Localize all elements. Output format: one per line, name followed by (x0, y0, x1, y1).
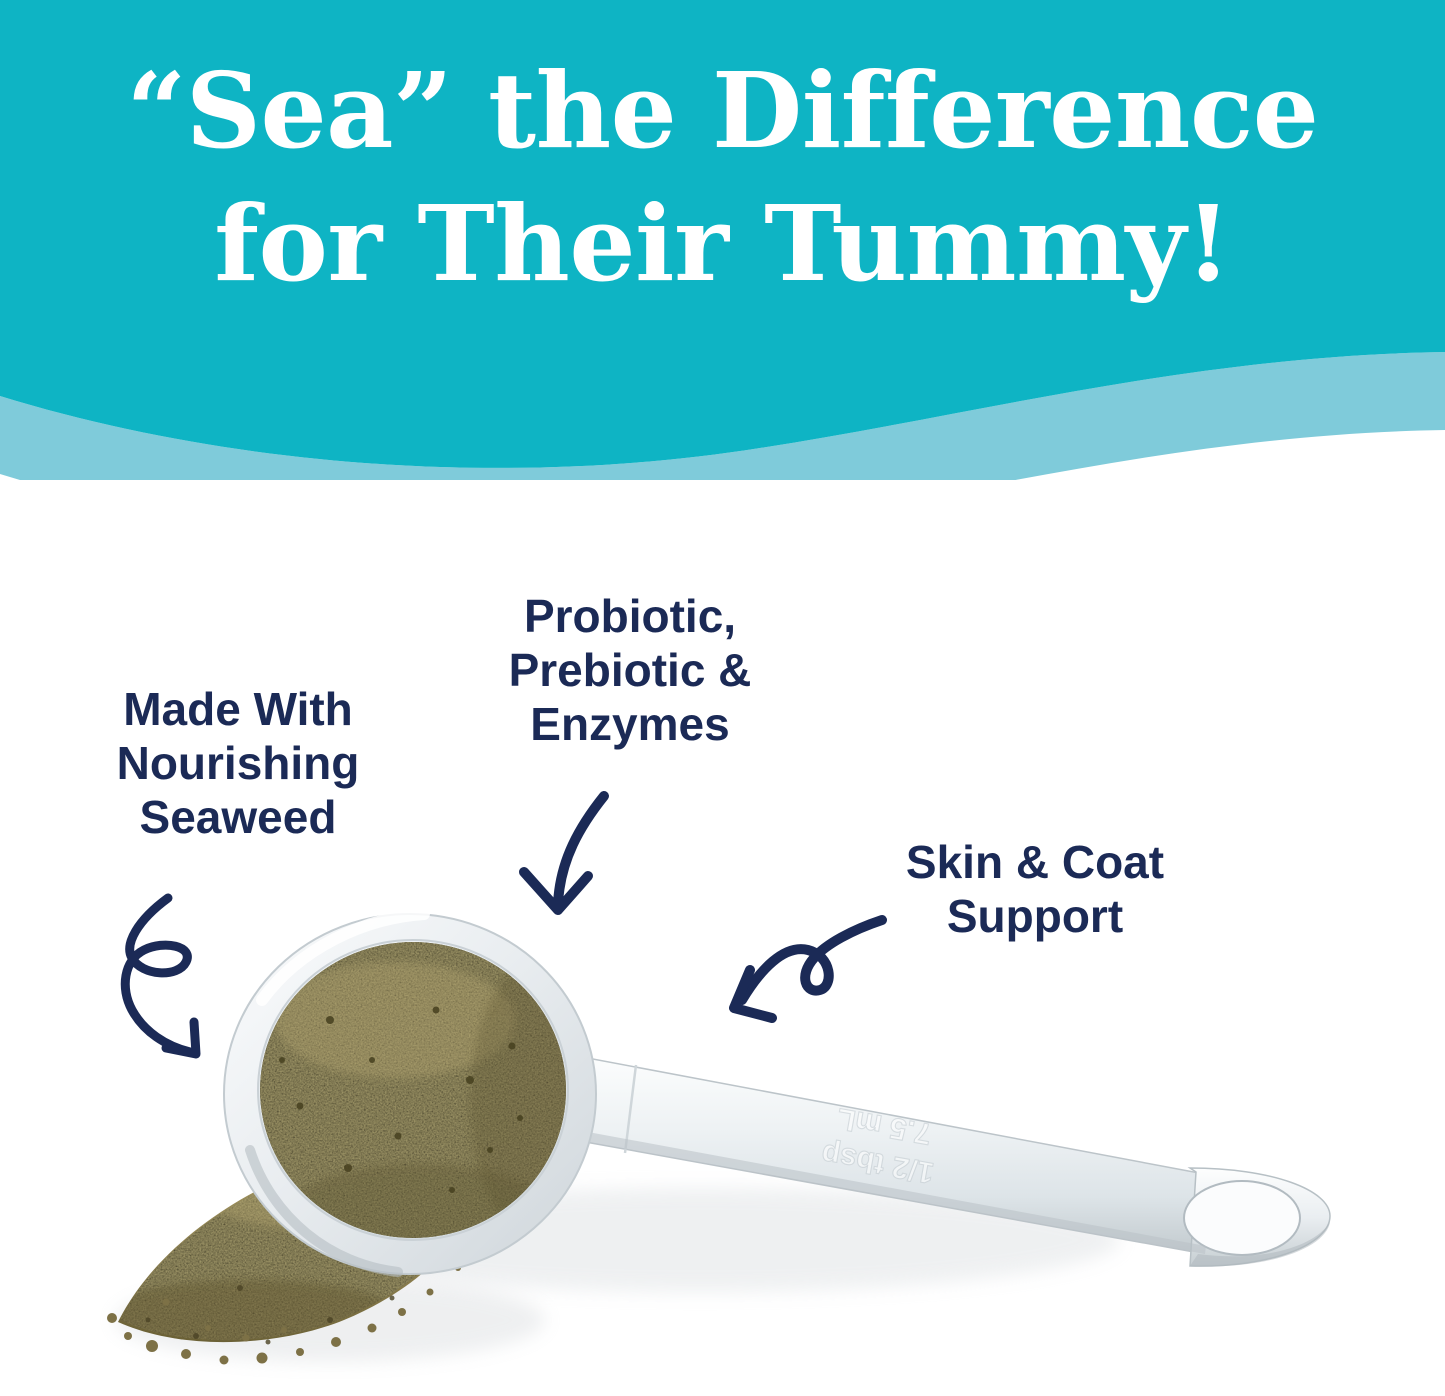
callout-skincoat-line-1: Skin & Coat (845, 836, 1225, 890)
header-banner: “Sea” the Difference for Their Tummy! (0, 0, 1445, 480)
callout-seaweed-line-1: Made With (48, 683, 428, 737)
callout-probiotic-line-1: Probiotic, (440, 590, 820, 644)
callout-probiotic-line-3: Enzymes (440, 698, 820, 752)
looped-arrow-down-left-icon (706, 896, 916, 1046)
handle-hanging-hole (1184, 1181, 1300, 1255)
callout-probiotic-prebiotic-enzymes: Probiotic, Prebiotic & Enzymes (440, 590, 820, 751)
header-wave-graphic (0, 0, 1445, 480)
callout-seaweed-line-3: Seaweed (48, 791, 428, 845)
marketing-infographic-page: “Sea” the Difference for Their Tummy! (0, 0, 1445, 1396)
curved-arrow-down-icon (498, 768, 638, 928)
callout-made-with-nourishing-seaweed: Made With Nourishing Seaweed (48, 683, 428, 844)
callout-probiotic-line-2: Prebiotic & (440, 644, 820, 698)
curly-loop-arrow-down-right-icon (98, 878, 288, 1068)
callout-seaweed-line-2: Nourishing (48, 737, 428, 791)
